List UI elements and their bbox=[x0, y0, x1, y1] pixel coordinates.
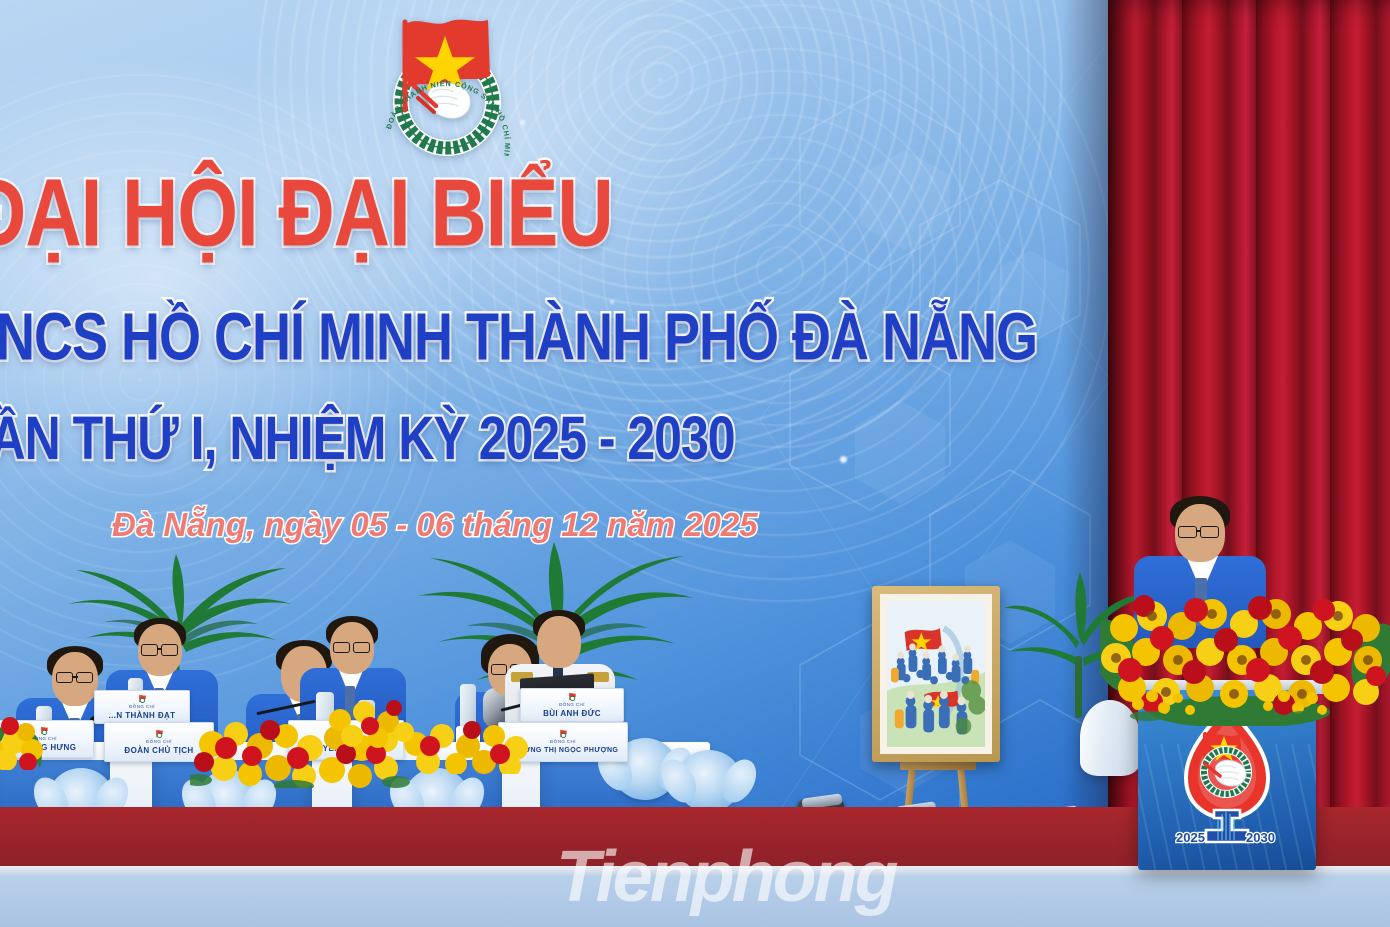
nameplate-5: ĐỒNG CHÍ BÙI ANH ĐỨC bbox=[520, 688, 624, 722]
podium-side-sprays bbox=[1128, 686, 1328, 736]
artwork-mat bbox=[880, 594, 992, 754]
plate-emblem-icon bbox=[138, 694, 147, 703]
congress-year-end: 2030 bbox=[1246, 830, 1275, 845]
nameplate-name: ...N THÀNH ĐẠT bbox=[109, 710, 176, 721]
easel-crossbar bbox=[900, 762, 976, 770]
floor-apron bbox=[0, 875, 1390, 927]
flower-arrangement-left bbox=[0, 680, 100, 770]
banner-dateline: Đà Nẵng, ngày 05 - 06 tháng 12 năm 2025 bbox=[112, 506, 1060, 544]
banner-headline: ĐẠI HỘI ĐẠI BIỂU bbox=[0, 160, 1060, 265]
banner-line-3: LẦN THỨ I, NHIỆM KỲ 2025 - 2030 bbox=[0, 404, 1060, 472]
flower-arrangement-far-right bbox=[326, 678, 416, 748]
banner-line-2: TNCS HỒ CHÍ MINH THÀNH PHỐ ĐÀ NẴNG bbox=[0, 300, 1060, 374]
nameplate-name: ĐOÀN CHỦ TỊCH bbox=[124, 745, 193, 756]
plate-emblem-icon bbox=[568, 692, 577, 701]
table-bow-5 bbox=[676, 750, 742, 812]
artwork-canvas bbox=[887, 601, 985, 747]
congress-year-start: 2025 bbox=[1176, 830, 1205, 845]
framed-artwork bbox=[872, 586, 1000, 762]
photo-scene: ĐOÀN THANH NIÊN CỘNG SẢN HỒ CHÍ MINH ĐẠI… bbox=[0, 0, 1390, 927]
youth-union-emblem: ĐOÀN THANH NIÊN CỘNG SẢN HỒ CHÍ MINH bbox=[372, 6, 522, 156]
plate-emblem-icon bbox=[559, 729, 568, 738]
nameplate-name: BÙI ANH ĐỨC bbox=[543, 708, 601, 719]
nameplate-2: ĐỒNG CHÍ ...N THÀNH ĐẠT bbox=[94, 690, 190, 724]
plate-emblem-icon bbox=[155, 729, 164, 738]
flower-arrangement-right bbox=[400, 690, 530, 774]
banner-text-block: ĐẠI HỘI ĐẠI BIỂU TNCS HỒ CHÍ MINH THÀNH … bbox=[0, 160, 1060, 544]
